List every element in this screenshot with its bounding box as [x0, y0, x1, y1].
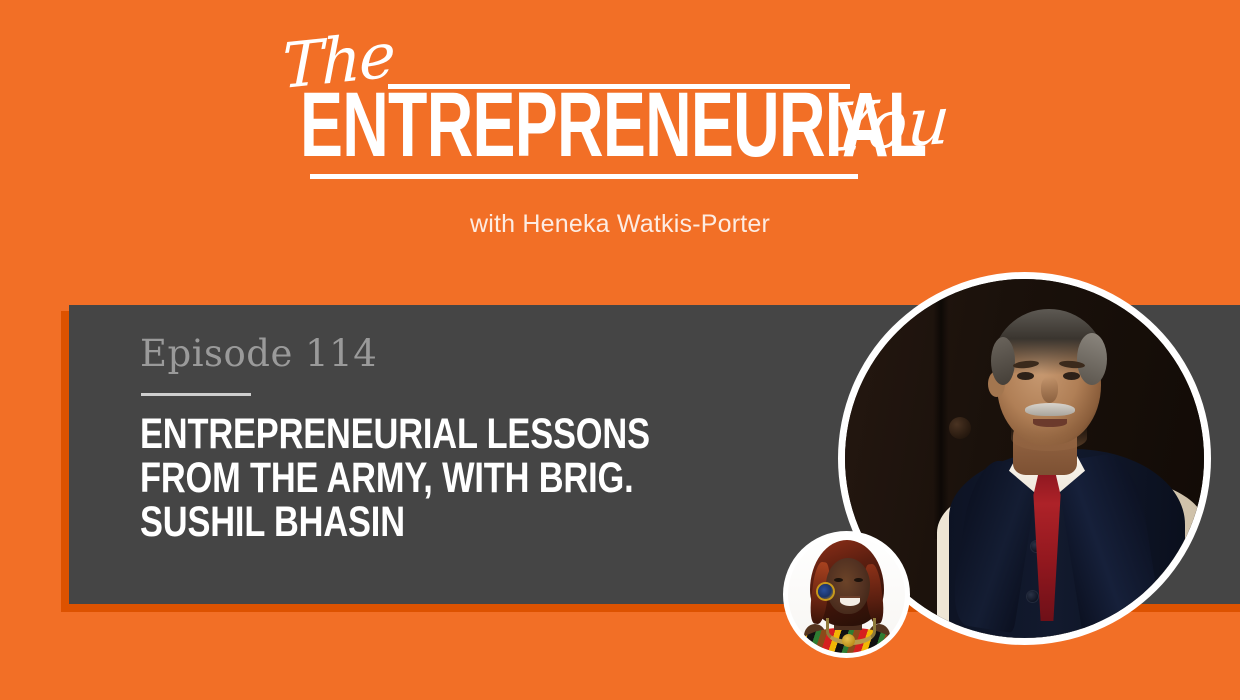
guest-moustache — [1025, 403, 1075, 416]
guest-eye-left — [1017, 372, 1034, 380]
guest-backdrop-seam — [933, 279, 949, 539]
host-avatar — [783, 531, 910, 658]
guest-chin — [1011, 425, 1087, 451]
brand-tagline: with Heneka Watkis-Porter — [0, 210, 1240, 239]
episode-divider — [141, 393, 251, 396]
episode-number-label: Episode 114 — [140, 335, 377, 372]
guest-backdrop-knob — [949, 417, 971, 439]
host-earring — [818, 584, 833, 599]
host-pendant — [842, 634, 855, 647]
logo-rule-bottom — [310, 174, 858, 179]
host-eye-left — [834, 578, 843, 582]
guest-nose — [1041, 377, 1058, 403]
guest-hair-right — [1077, 333, 1107, 385]
host-eye-right — [854, 578, 863, 582]
guest-eye-right — [1063, 372, 1080, 380]
brand-logo: The ENTREPRENEURIAL You with Heneka Watk… — [0, 34, 1240, 244]
logo-script-you: You — [828, 88, 952, 163]
guest-hair-left — [991, 337, 1015, 385]
episode-title: Entrepreneurial Lessons from the Army, w… — [140, 413, 652, 545]
host-smile — [840, 596, 860, 606]
guest-vest-button — [1027, 591, 1038, 602]
logo-lockup: The ENTREPRENEURIAL You — [270, 34, 970, 194]
host-avatar-inner — [788, 536, 905, 653]
podcast-episode-graphic: The ENTREPRENEURIAL You with Heneka Watk… — [0, 0, 1240, 700]
